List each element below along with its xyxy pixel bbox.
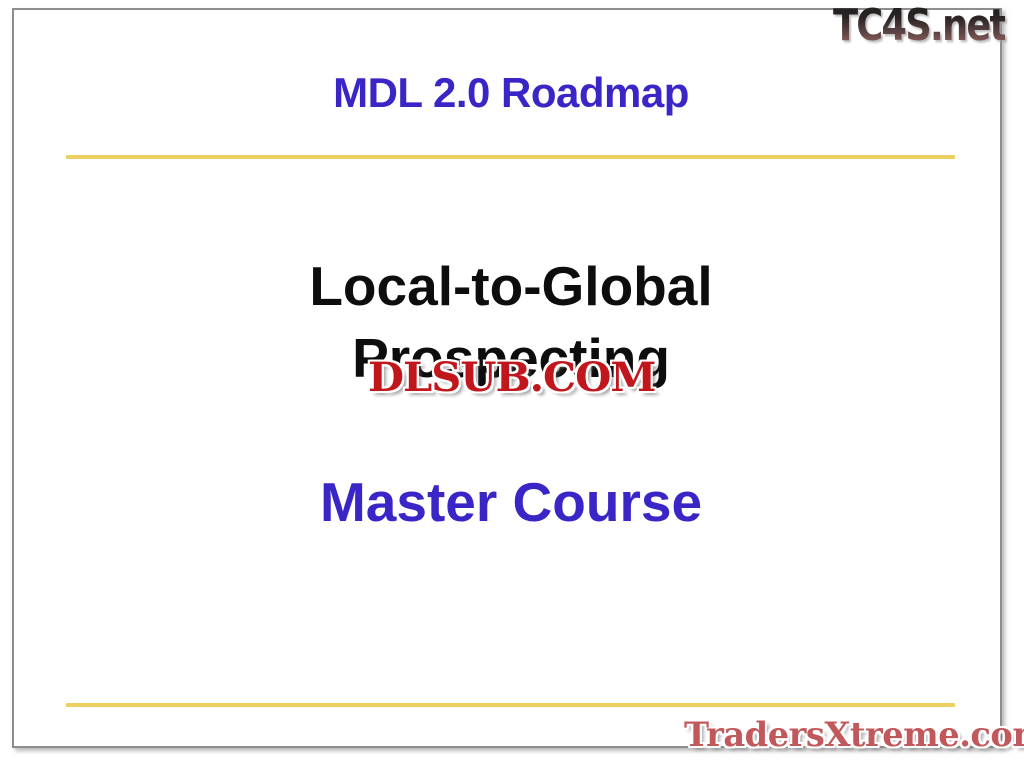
slide-title-block: MDL 2.0 Roadmap [66, 68, 956, 118]
page-title: MDL 2.0 Roadmap [66, 68, 956, 118]
divider-top [66, 155, 955, 159]
slide-root: MDL 2.0 Roadmap Local-to-Global Prospect… [0, 0, 1024, 768]
body-line-spacer [66, 394, 956, 466]
slide-body-block: Local-to-Global Prospecting Master Cours… [66, 250, 956, 538]
body-line-3: Master Course [66, 466, 956, 538]
divider-bottom [66, 703, 955, 707]
body-line-2: Prospecting [66, 322, 956, 394]
body-line-1: Local-to-Global [66, 250, 956, 322]
